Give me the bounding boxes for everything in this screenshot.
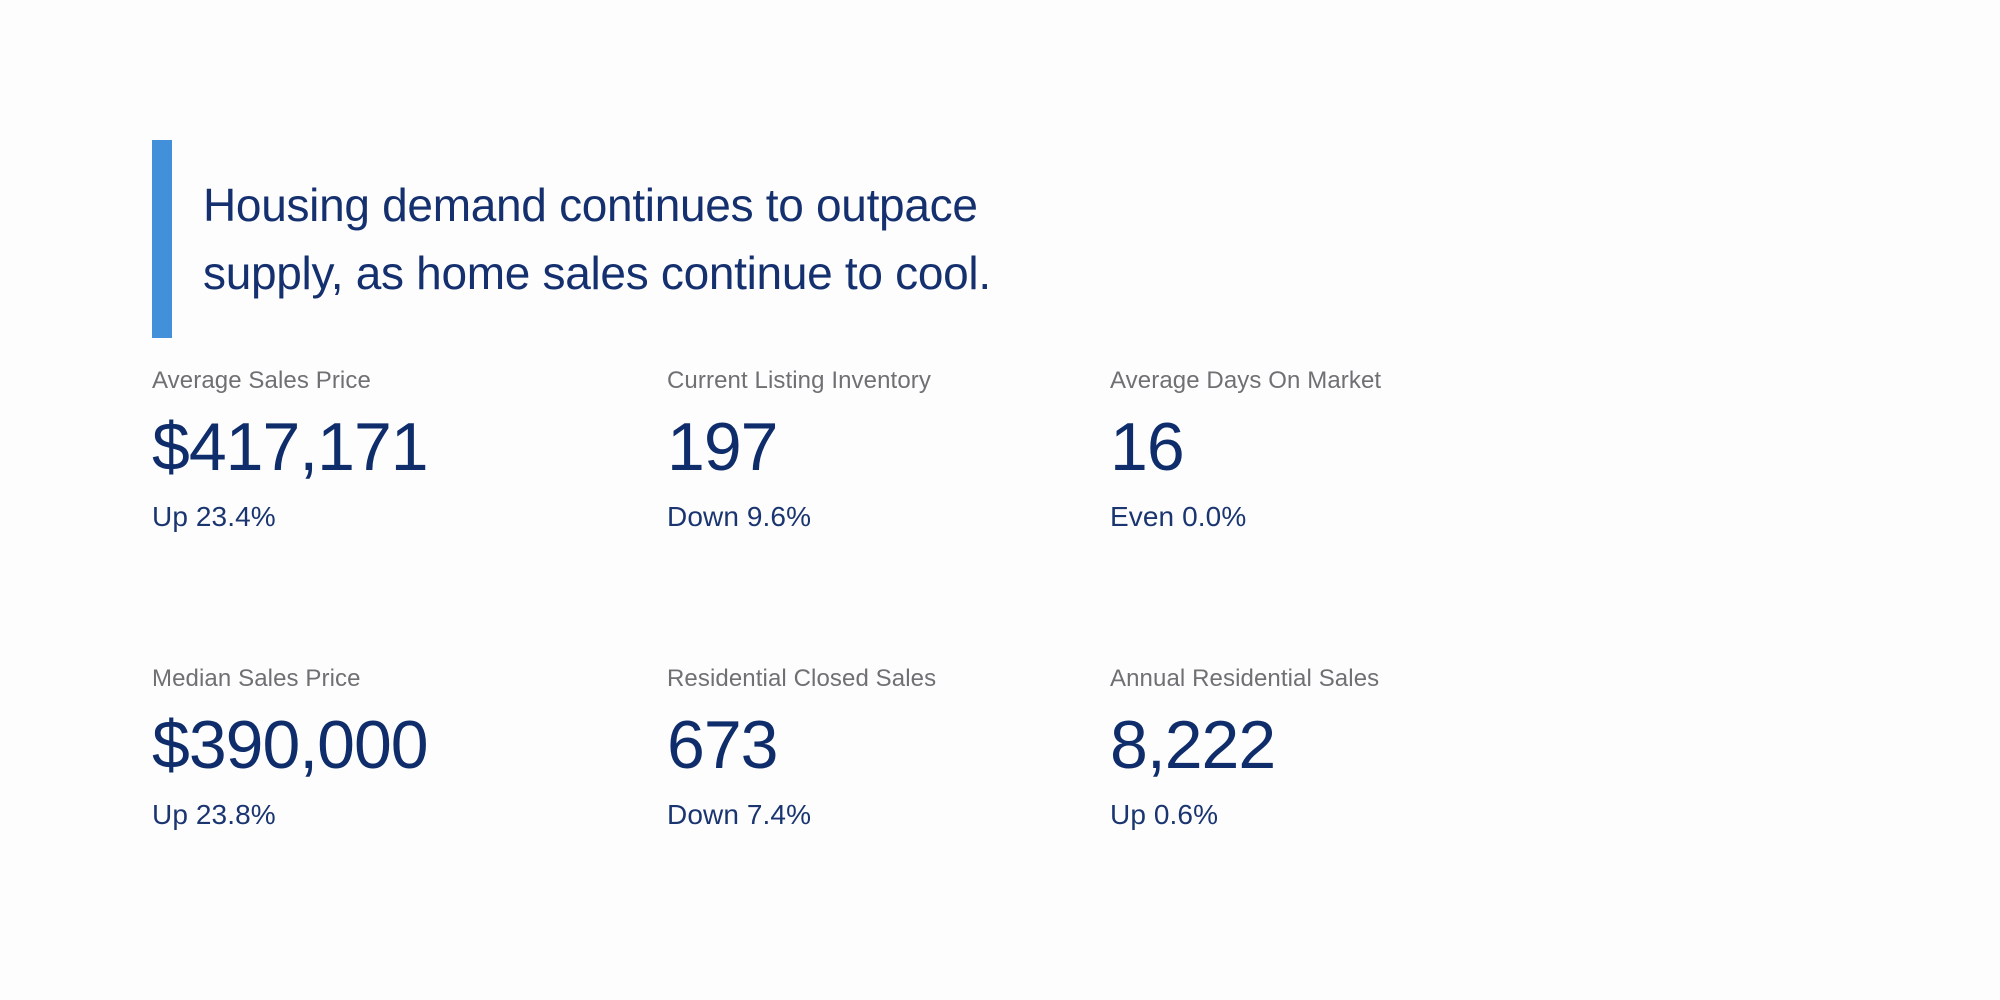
metric-change: Down 9.6%	[667, 500, 1110, 534]
metric-change: Up 23.8%	[152, 798, 667, 832]
metric-value: $390,000	[152, 702, 667, 788]
stats-page: Housing demand continues to outpace supp…	[0, 0, 2000, 1000]
metric-card-current-listing-inventory: Current Listing Inventory 197 Down 9.6%	[667, 366, 1110, 534]
accent-bar	[152, 140, 172, 338]
metric-card-median-sales-price: Median Sales Price $390,000 Up 23.8%	[152, 664, 667, 832]
metric-change: Up 0.6%	[1110, 798, 1610, 832]
page-title: Housing demand continues to outpace supp…	[203, 171, 991, 307]
metric-value: 197	[667, 404, 1110, 490]
metric-value: 8,222	[1110, 702, 1610, 788]
metric-card-annual-residential-sales: Annual Residential Sales 8,222 Up 0.6%	[1110, 664, 1610, 832]
metric-label: Residential Closed Sales	[667, 664, 1110, 694]
metric-change: Up 23.4%	[152, 500, 667, 534]
metric-card-average-days-on-market: Average Days On Market 16 Even 0.0%	[1110, 366, 1610, 534]
metric-label: Average Sales Price	[152, 366, 667, 396]
page-title-line-2: supply, as home sales continue to cool.	[203, 239, 991, 307]
metric-label: Average Days On Market	[1110, 366, 1610, 396]
metric-value: 673	[667, 702, 1110, 788]
metric-card-average-sales-price: Average Sales Price $417,171 Up 23.4%	[152, 366, 667, 534]
metric-label: Current Listing Inventory	[667, 366, 1110, 396]
metric-value: 16	[1110, 404, 1610, 490]
headline-block: Housing demand continues to outpace supp…	[152, 140, 991, 338]
metric-value: $417,171	[152, 404, 667, 490]
metric-change: Down 7.4%	[667, 798, 1110, 832]
page-title-line-1: Housing demand continues to outpace	[203, 171, 991, 239]
metric-label: Annual Residential Sales	[1110, 664, 1610, 694]
metric-change: Even 0.0%	[1110, 500, 1610, 534]
metric-card-residential-closed-sales: Residential Closed Sales 673 Down 7.4%	[667, 664, 1110, 832]
metric-label: Median Sales Price	[152, 664, 667, 694]
metrics-grid: Average Sales Price $417,171 Up 23.4% Cu…	[152, 366, 1652, 832]
